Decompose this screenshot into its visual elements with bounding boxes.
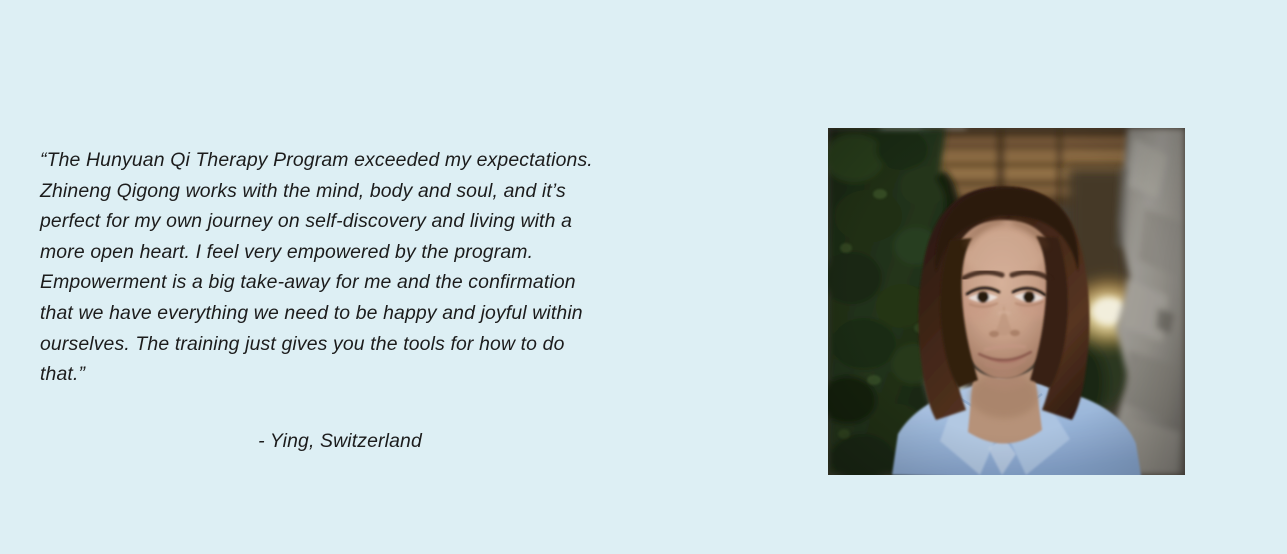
- quote-line: more open heart. I feel very empowered b…: [40, 237, 660, 268]
- quote-line: Empowerment is a big take-away for me an…: [40, 267, 660, 298]
- quote-line: “The Hunyuan Qi Therapy Program exceeded…: [40, 145, 660, 176]
- quote-line: that.”: [40, 359, 660, 390]
- quote-attribution: - Ying, Switzerland: [40, 426, 640, 457]
- quote-line: Zhineng Qigong works with the mind, body…: [40, 176, 660, 207]
- quote-line: that we have everything we need to be ha…: [40, 298, 660, 329]
- quote-line: ourselves. The training just gives you t…: [40, 329, 660, 360]
- testimonial-slide: “The Hunyuan Qi Therapy Program exceeded…: [0, 0, 1287, 554]
- testimonial-quote: “The Hunyuan Qi Therapy Program exceeded…: [40, 145, 660, 390]
- portrait-photo: [828, 128, 1185, 475]
- portrait-photo-image: [828, 128, 1185, 475]
- quote-line: perfect for my own journey on self-disco…: [40, 206, 660, 237]
